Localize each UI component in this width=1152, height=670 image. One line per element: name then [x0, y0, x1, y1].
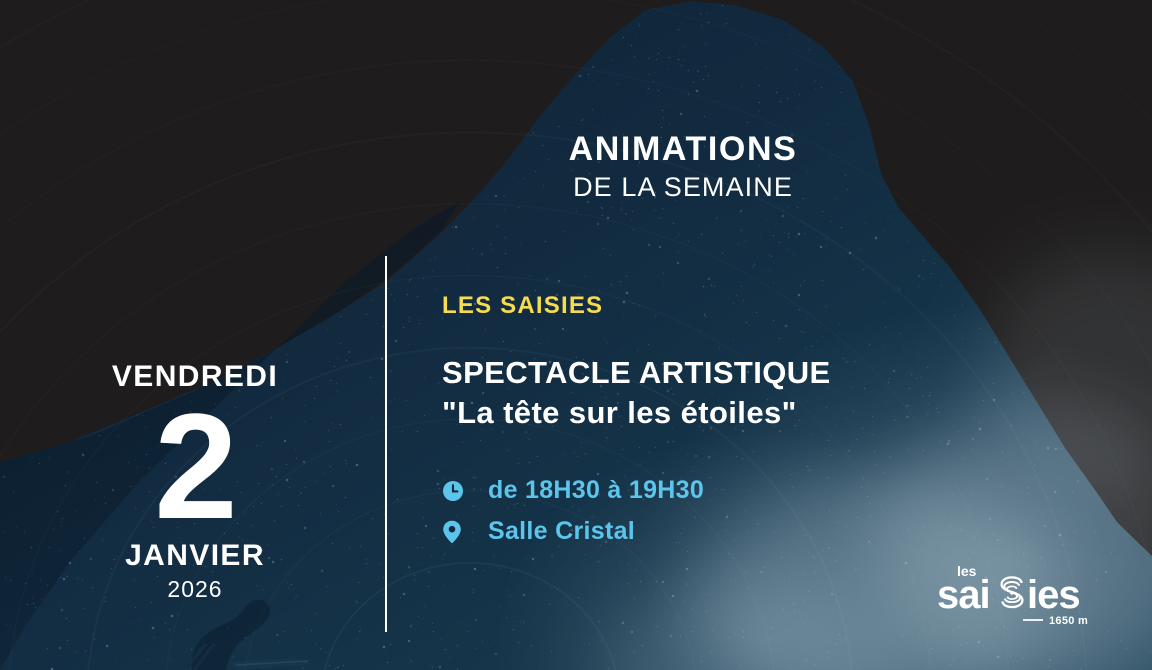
- event-title-group: SPECTACLE ARTISTIQUE "La tête sur les ét…: [442, 353, 1102, 432]
- header-title: ANIMATIONS: [385, 132, 981, 168]
- location-pin-icon: [442, 519, 466, 545]
- event-time-row: de 18H30 à 19H30: [442, 476, 1102, 505]
- clock-icon: [442, 478, 466, 504]
- event-venue-text: Salle Cristal: [488, 517, 635, 546]
- event-subtitle: "La tête sur les étoiles": [442, 393, 1102, 433]
- event-title: SPECTACLE ARTISTIQUE: [442, 355, 831, 390]
- event-poster: ANIMATIONS DE LA SEMAINE VENDREDI 2 JANV…: [0, 0, 1152, 670]
- event-time-text: de 18H30 à 19H30: [488, 476, 704, 505]
- vertical-divider: [385, 256, 387, 632]
- event-location-name: LES SAISIES: [442, 292, 1102, 320]
- date-year: 2026: [40, 576, 350, 603]
- skier-silhouette: [118, 592, 358, 670]
- logo-altitude: 1650 m: [1049, 615, 1088, 627]
- logo-spiral-s-mark: [1002, 577, 1023, 607]
- les-saisies-logo: les sai ies 1650 m: [935, 558, 1095, 630]
- logo-part2: ies: [1027, 573, 1080, 617]
- event-venue-row: Salle Cristal: [442, 517, 1102, 546]
- date-month: JANVIER: [40, 539, 350, 573]
- date-day-number: 2: [40, 396, 350, 537]
- poster-header: ANIMATIONS DE LA SEMAINE: [385, 132, 981, 203]
- event-details: LES SAISIES SPECTACLE ARTISTIQUE "La têt…: [442, 292, 1102, 558]
- header-subtitle: DE LA SEMAINE: [385, 172, 981, 203]
- event-info-list: de 18H30 à 19H30 Salle Cristal: [442, 476, 1102, 546]
- logo-part1: sai: [937, 573, 990, 617]
- date-block: VENDREDI 2 JANVIER 2026: [40, 360, 350, 603]
